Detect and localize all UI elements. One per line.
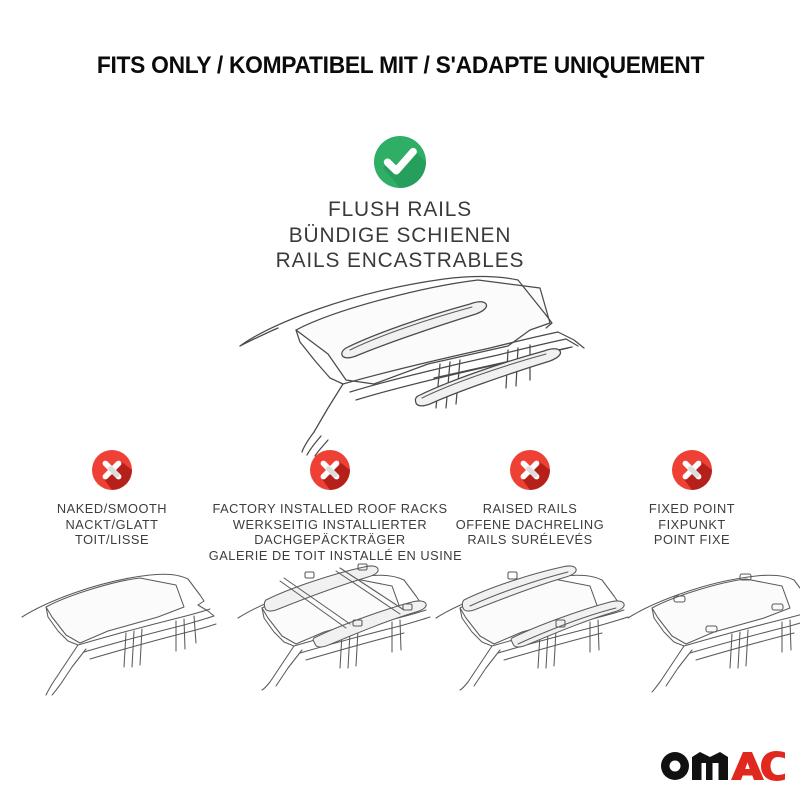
caption-line-en: NAKED/SMOOTH bbox=[15, 501, 209, 517]
caption-line-en: RAISED RAILS bbox=[433, 501, 627, 517]
caption-line-en: FACTORY INSTALLED ROOF RACKS bbox=[209, 501, 452, 517]
caption-line-fr: POINT FIXE bbox=[614, 532, 769, 548]
red-x-circle-icon bbox=[672, 450, 712, 490]
page-title: FITS ONLY / KOMPATIBEL MIT / S'ADAPTE UN… bbox=[0, 52, 800, 80]
red-x-circle-icon bbox=[510, 450, 550, 490]
compatible-line-de: BÜNDIGE SCHIENEN bbox=[12, 223, 788, 249]
car-roof-fixed-point-illustration bbox=[614, 552, 800, 692]
incompatible-item-raised-rails: RAISED RAILS OFFENE DACHRELING RAILS SUR… bbox=[430, 450, 630, 548]
green-check-circle-icon bbox=[374, 136, 426, 188]
compatible-line-en: FLUSH RAILS bbox=[12, 197, 788, 223]
incompatible-item-factory-rack: FACTORY INSTALLED ROOF RACKS WERKSEITIG … bbox=[205, 450, 455, 563]
red-x-circle-icon bbox=[310, 450, 350, 490]
car-roof-flush-rails-illustration bbox=[178, 268, 626, 458]
car-roof-factory-rack-illustration bbox=[222, 550, 432, 690]
fitment-infographic: { "header": { "title": "FITS ONLY / KOMP… bbox=[0, 0, 800, 800]
caption-line-de: NACKT/GLATT bbox=[15, 517, 209, 533]
car-roof-naked-smooth-illustration bbox=[8, 555, 218, 695]
caption-line-de-1: WERKSEITIG INSTALLIERTER bbox=[209, 517, 452, 533]
incompatible-item-naked-smooth: NAKED/SMOOTH NACKT/GLATT TOIT/LISSE bbox=[12, 450, 212, 548]
red-x-circle-icon bbox=[92, 450, 132, 490]
caption-line-en: FIXED POINT bbox=[614, 501, 769, 517]
caption-line-de-2: DACHGEPÄCKTRÄGER bbox=[209, 532, 452, 548]
incompatible-item-fixed-point: FIXED POINT FIXPUNKT POINT FIXE bbox=[612, 450, 772, 548]
car-roof-raised-rails-illustration bbox=[420, 550, 630, 690]
page-title-text: FITS ONLY / KOMPATIBEL MIT / S'ADAPTE UN… bbox=[96, 52, 703, 80]
caption-line-de: OFFENE DACHRELING bbox=[433, 517, 627, 533]
compatible-section: FLUSH RAILS BÜNDIGE SCHIENEN RAILS ENCAS… bbox=[0, 136, 800, 274]
incompatible-caption: FIXED POINT FIXPUNKT POINT FIXE bbox=[614, 501, 769, 548]
compatible-caption: FLUSH RAILS BÜNDIGE SCHIENEN RAILS ENCAS… bbox=[12, 197, 788, 274]
caption-line-fr: TOIT/LISSE bbox=[15, 532, 209, 548]
caption-line-fr: RAILS SURÉLEVÉS bbox=[433, 532, 627, 548]
incompatible-caption: NAKED/SMOOTH NACKT/GLATT TOIT/LISSE bbox=[15, 501, 209, 548]
incompatible-caption: RAISED RAILS OFFENE DACHRELING RAILS SUR… bbox=[433, 501, 627, 548]
caption-line-de: FIXPUNKT bbox=[614, 517, 769, 533]
omac-logo bbox=[659, 748, 785, 784]
